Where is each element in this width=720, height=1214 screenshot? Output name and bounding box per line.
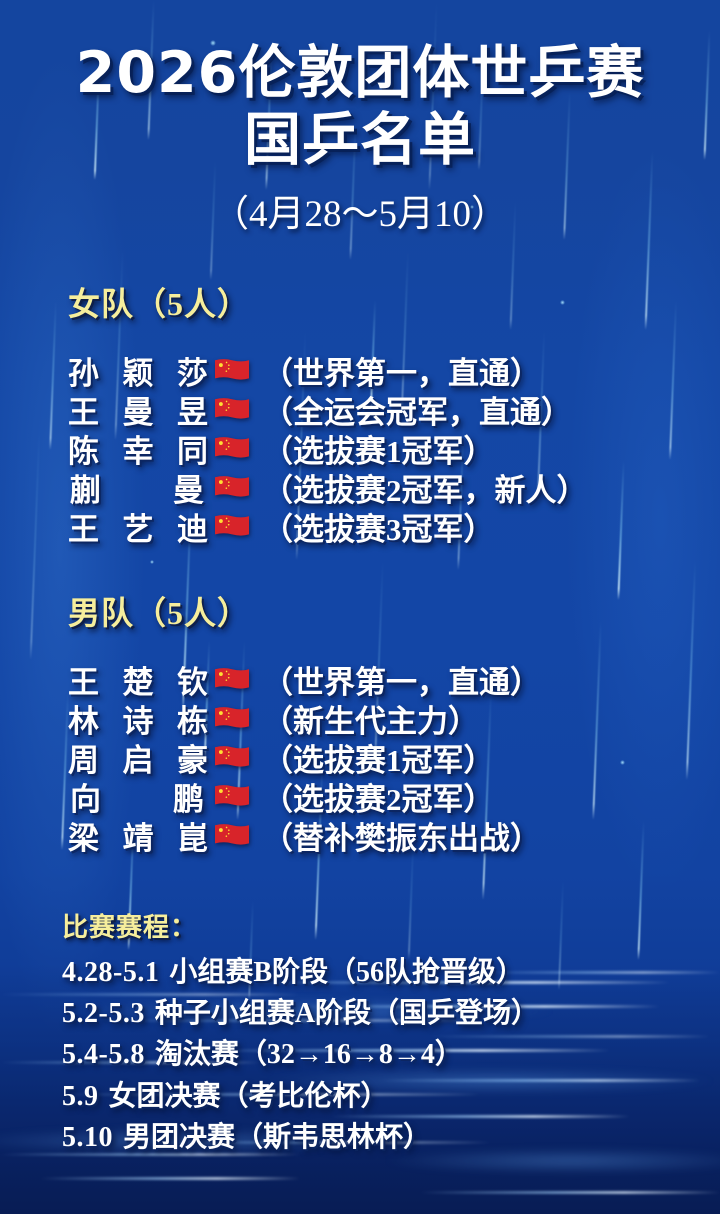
roster-row: 蒯曼（选拔赛2冠军，新人） <box>68 468 720 507</box>
roster-row: 王艺迪（选拔赛3冠军） <box>68 507 720 546</box>
men-team-heading: 男队（5人） <box>68 588 720 634</box>
schedule-row: 5.10男团决赛（斯韦思林杯） <box>62 1117 720 1158</box>
poster-root: 2026伦敦团体世乒赛 国乒名单 （4月28～5月10） 女队（5人） 孙颖莎（… <box>0 0 720 1214</box>
schedule-row: 5.9女团决赛（考比伦杯） <box>62 1076 720 1117</box>
women-team-heading: 女队（5人） <box>68 279 720 325</box>
china-flag-icon <box>208 398 256 421</box>
roster-row: 孙颖莎（世界第一，直通） <box>68 351 720 390</box>
schedule-text: 小组赛B阶段（56队抢晋级） <box>169 957 524 988</box>
schedule-row: 4.28-5.1小组赛B阶段（56队抢晋级） <box>62 952 720 993</box>
page-title-line1: 2026伦敦团体世乒赛 <box>0 40 720 107</box>
schedule-dates: 5.9 <box>62 1081 99 1112</box>
player-note: （选拔赛3冠军） <box>262 504 495 549</box>
schedule-dates: 5.4-5.8 <box>62 1039 145 1070</box>
player-note: （替补樊振东出战） <box>262 813 541 858</box>
roster-row: 王曼昱（全运会冠军，直通） <box>68 390 720 429</box>
roster-row: 林诗栋（新生代主力） <box>68 699 720 738</box>
schedule-text: 淘汰赛（32→16→8→4） <box>155 1039 463 1070</box>
schedule-text: 种子小组赛A阶段（国乒登场） <box>155 998 539 1029</box>
schedule-row: 5.2-5.3种子小组赛A阶段（国乒登场） <box>62 993 720 1034</box>
china-flag-icon <box>208 824 256 847</box>
roster-row: 梁靖崑（替补樊振东出战） <box>68 816 720 855</box>
schedule-dates: 5.10 <box>62 1122 113 1153</box>
schedule-heading: 比赛赛程： <box>62 907 720 944</box>
schedule-dates: 5.2-5.3 <box>62 998 145 1029</box>
china-flag-icon <box>208 668 256 691</box>
women-team-section: 女队（5人） 孙颖莎（世界第一，直通）王曼昱（全运会冠军，直通）陈幸同（选拔赛1… <box>0 279 720 546</box>
date-range-subtitle: （4月28～5月10） <box>0 183 720 237</box>
roster-row: 陈幸同（选拔赛1冠军） <box>68 429 720 468</box>
men-team-section: 男队（5人） 王楚钦（世界第一，直通）林诗栋（新生代主力）周启豪（选拔赛1冠军）… <box>0 588 720 855</box>
china-flag-icon <box>208 476 256 499</box>
page-title-line2: 国乒名单 <box>0 107 720 174</box>
china-flag-icon <box>208 437 256 460</box>
schedule-row: 5.4-5.8淘汰赛（32→16→8→4） <box>62 1034 720 1075</box>
schedule-dates: 4.28-5.1 <box>62 957 159 988</box>
china-flag-icon <box>208 707 256 730</box>
china-flag-icon <box>208 515 256 538</box>
roster-row: 向鹏（选拔赛2冠军） <box>68 777 720 816</box>
schedule-text: 女团决赛（考比伦杯） <box>109 1081 389 1112</box>
schedule-section: 比赛赛程： 4.28-5.1小组赛B阶段（56队抢晋级）5.2-5.3种子小组赛… <box>0 907 720 1159</box>
schedule-text: 男团决赛（斯韦思林杯） <box>123 1122 431 1153</box>
roster-row: 王楚钦（世界第一，直通） <box>68 660 720 699</box>
poster-content: 2026伦敦团体世乒赛 国乒名单 （4月28～5月10） 女队（5人） 孙颖莎（… <box>0 0 720 1159</box>
china-flag-icon <box>208 359 256 382</box>
china-flag-icon <box>208 785 256 808</box>
men-roster-list: 王楚钦（世界第一，直通）林诗栋（新生代主力）周启豪（选拔赛1冠军）向鹏（选拔赛2… <box>68 660 720 855</box>
player-name: 梁靖崑 <box>68 813 208 858</box>
china-flag-icon <box>208 746 256 769</box>
title-block: 2026伦敦团体世乒赛 国乒名单 （4月28～5月10） <box>0 0 720 237</box>
women-roster-list: 孙颖莎（世界第一，直通）王曼昱（全运会冠军，直通）陈幸同（选拔赛1冠军）蒯曼（选… <box>68 351 720 546</box>
player-name: 王艺迪 <box>68 504 208 549</box>
roster-row: 周启豪（选拔赛1冠军） <box>68 738 720 777</box>
schedule-list: 4.28-5.1小组赛B阶段（56队抢晋级）5.2-5.3种子小组赛A阶段（国乒… <box>62 952 720 1159</box>
